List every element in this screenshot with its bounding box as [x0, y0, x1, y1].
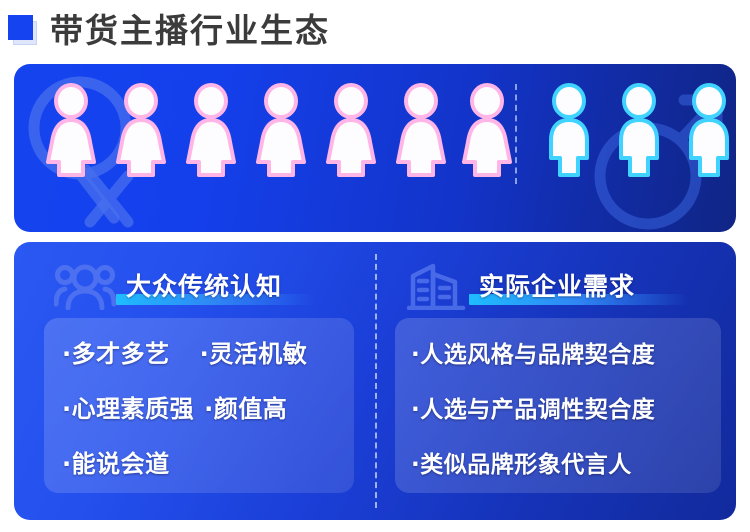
left-heading: 大众传统认知: [126, 267, 282, 303]
column-enterprise-demand: 实际企业需求 ·人选风格与品牌契合度 ·人选与产品调性契合度 ·类似品牌形象代言…: [375, 242, 736, 520]
right-heading-group: 实际企业需求: [407, 260, 687, 306]
female-figure-icon: [320, 82, 382, 178]
list-item: ·类似品牌形象代言人: [411, 445, 632, 479]
page-title: 带货主播行业生态: [50, 14, 330, 47]
page-title-row: 带货主播行业生态: [8, 8, 330, 52]
gender-ratio-panel: 女性主播占比70%以上: [14, 64, 736, 232]
female-figure-icon: [110, 82, 172, 178]
list-item: ·多才多艺: [62, 334, 170, 369]
right-item-row: ·人选风格与品牌契合度: [411, 335, 655, 369]
list-item: ·人选与产品调性契合度: [411, 390, 655, 424]
right-heading: 实际企业需求: [479, 267, 635, 303]
column-public-perception: 大众传统认知 ·多才多艺 ·灵活机敏 ·心理素质强 ·颜值高 ·能说会道: [14, 242, 375, 520]
right-item-row: ·人选与产品调性契合度: [411, 390, 655, 424]
list-item: ·灵活机敏: [200, 334, 308, 369]
right-item-row: ·类似品牌形象代言人: [411, 445, 632, 479]
female-figure-icon: [180, 82, 242, 178]
female-figure-icon: [40, 82, 102, 178]
title-bullet-fill: [8, 15, 33, 40]
gender-divider: [515, 84, 517, 184]
female-figure-icon: [456, 82, 518, 178]
left-heading-group: 大众传统认知: [54, 260, 314, 306]
list-item: ·能说会道: [62, 444, 170, 479]
building-icon: [407, 260, 469, 310]
left-item-row: ·心理素质强 ·颜值高: [62, 389, 287, 424]
female-figure-icon: [250, 82, 312, 178]
list-item: ·颜值高: [204, 389, 287, 424]
people-group-icon: [54, 260, 116, 310]
comparison-panel: 大众传统认知 ·多才多艺 ·灵活机敏 ·心理素质强 ·颜值高 ·能说会道: [14, 242, 736, 520]
right-items-card: ·人选风格与品牌契合度 ·人选与产品调性契合度 ·类似品牌形象代言人: [395, 318, 721, 493]
male-figure-icon: [608, 82, 670, 178]
male-figure-icon: [678, 82, 736, 178]
left-items-card: ·多才多艺 ·灵活机敏 ·心理素质强 ·颜值高 ·能说会道: [44, 318, 354, 493]
left-item-row: ·能说会道: [62, 444, 170, 479]
list-item: ·心理素质强: [62, 389, 194, 424]
infographic-root: 带货主播行业生态: [0, 0, 750, 532]
left-item-row: ·多才多艺 ·灵活机敏: [62, 334, 307, 369]
list-item: ·人选风格与品牌契合度: [411, 335, 655, 369]
figure-row: [14, 64, 736, 184]
female-figure-icon: [390, 82, 452, 178]
title-bullet-square-icon: [8, 15, 38, 45]
male-figure-icon: [538, 82, 600, 178]
